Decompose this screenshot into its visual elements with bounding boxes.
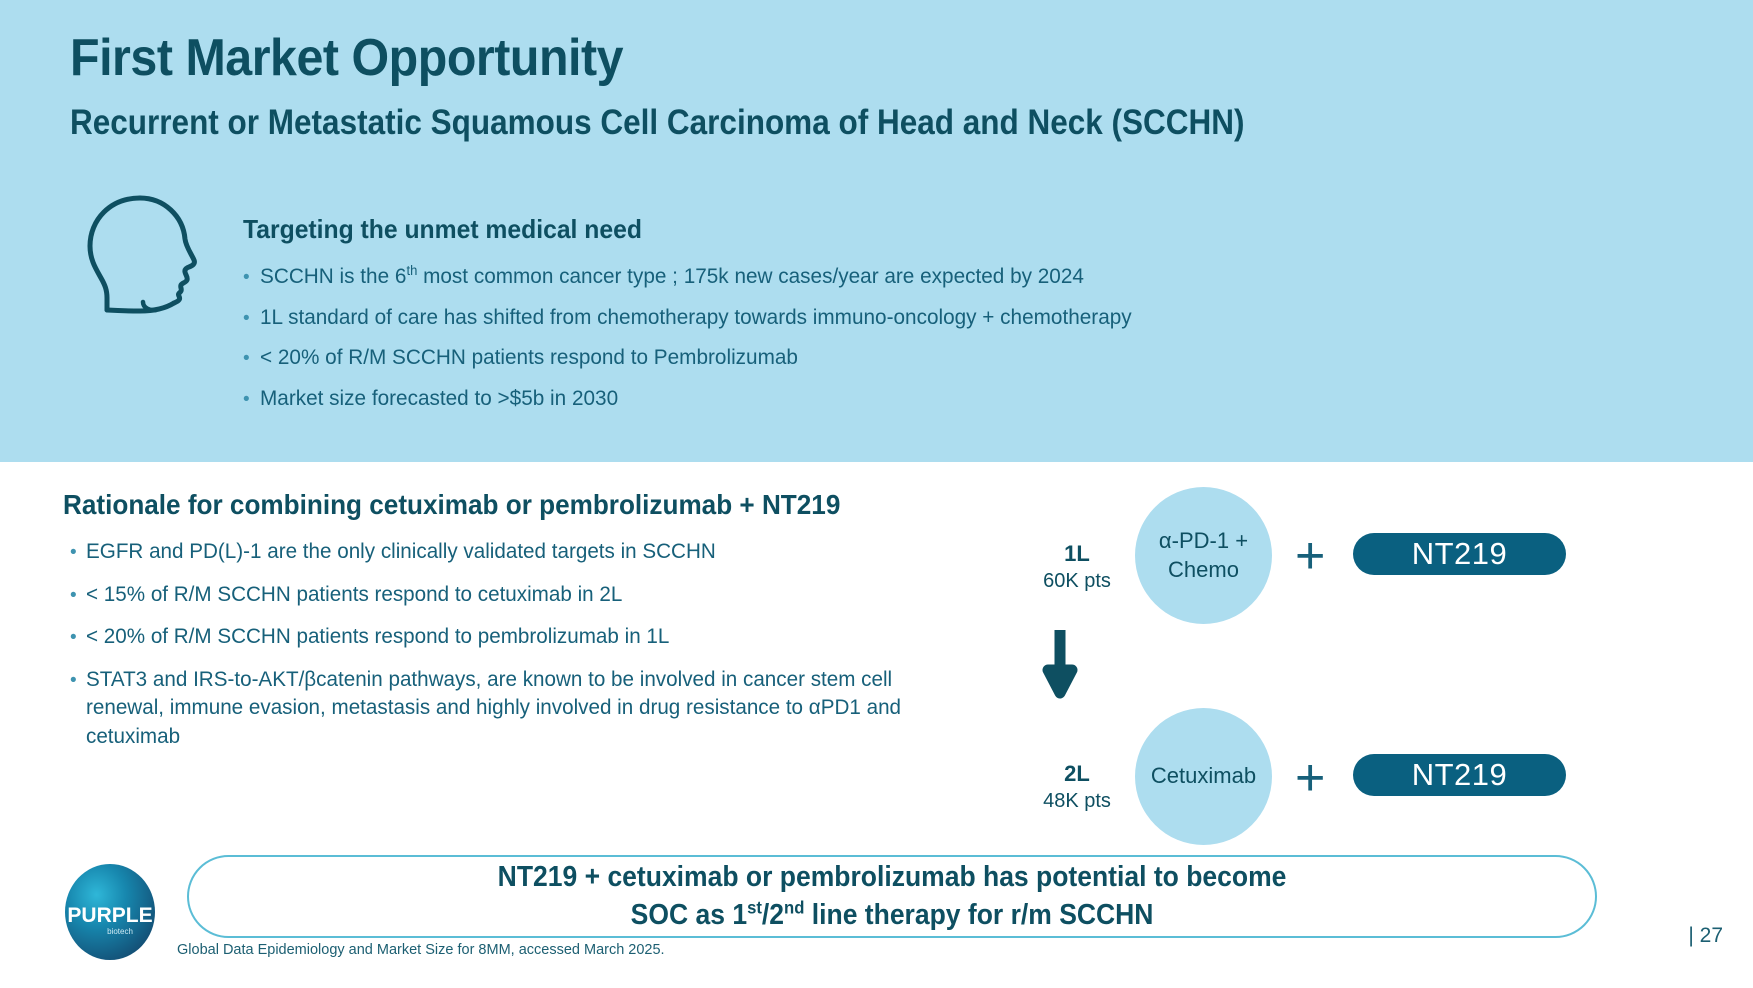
plus-sign-2l: + bbox=[1295, 752, 1325, 804]
list-item-text: EGFR and PD(L)-1 are the only clinically… bbox=[86, 537, 716, 566]
list-item: • STAT3 and IRS-to-AKT/βcatenin pathways… bbox=[70, 665, 1010, 751]
drug-circle-apd1-chemo: α-PD-1 + Chemo bbox=[1135, 487, 1272, 624]
purple-biotech-logo: PURPLE biotech bbox=[58, 862, 163, 962]
patient-count: 60K pts bbox=[1022, 568, 1132, 595]
callout-line-2: SOC as 1st/2nd line therapy for r/m SCCH… bbox=[631, 897, 1154, 935]
drug-circle-label: α-PD-1 + Chemo bbox=[1159, 527, 1248, 584]
unmet-need-bullet-list: • SCCHN is the 6th most common cancer ty… bbox=[243, 263, 1303, 425]
patient-count: 48K pts bbox=[1022, 788, 1132, 815]
list-item: • < 20% of R/M SCCHN patients respond to… bbox=[70, 622, 1010, 651]
list-item-text: 1L standard of care has shifted from che… bbox=[260, 304, 1132, 332]
conclusion-callout: NT219 + cetuximab or pembrolizumab has p… bbox=[187, 855, 1597, 938]
drug-circle-label: Cetuximab bbox=[1151, 762, 1256, 791]
list-item: • SCCHN is the 6th most common cancer ty… bbox=[243, 263, 1303, 291]
superscript: th bbox=[406, 263, 417, 278]
list-item: • 1L standard of care has shifted from c… bbox=[243, 304, 1303, 332]
list-item-text: < 20% of R/M SCCHN patients respond to p… bbox=[86, 622, 669, 651]
superscript: st bbox=[747, 897, 762, 917]
bullet-dot-icon: • bbox=[70, 628, 86, 647]
list-item: • Market size forecasted to >$5b in 2030 bbox=[243, 385, 1303, 413]
nt219-pill-1l[interactable]: NT219 bbox=[1353, 533, 1566, 575]
list-item: • < 15% of R/M SCCHN patients respond to… bbox=[70, 580, 1010, 609]
line-label-1l: 1L 60K pts bbox=[1022, 540, 1132, 595]
page-title: First Market Opportunity bbox=[70, 28, 623, 88]
bullet-dot-icon: • bbox=[243, 309, 260, 328]
plus-sign-1l: + bbox=[1295, 530, 1325, 582]
list-item-text: STAT3 and IRS-to-AKT/βcatenin pathways, … bbox=[86, 665, 931, 751]
superscript: nd bbox=[784, 897, 804, 917]
rationale-bullet-list: • EGFR and PD(L)-1 are the only clinical… bbox=[70, 537, 1010, 765]
page-subtitle: Recurrent or Metastatic Squamous Cell Ca… bbox=[70, 103, 1245, 143]
list-item-text: SCCHN is the 6th most common cancer type… bbox=[260, 263, 1084, 291]
line-label-2l: 2L 48K pts bbox=[1022, 760, 1132, 815]
logo-tagline: biotech bbox=[107, 927, 133, 936]
line-name: 1L bbox=[1022, 540, 1132, 568]
list-item: • EGFR and PD(L)-1 are the only clinical… bbox=[70, 537, 1010, 566]
page-number: | 27 bbox=[1688, 924, 1723, 948]
callout-line-1: NT219 + cetuximab or pembrolizumab has p… bbox=[498, 859, 1287, 897]
rationale-heading: Rationale for combining cetuximab or pem… bbox=[63, 489, 840, 521]
nt219-pill-2l[interactable]: NT219 bbox=[1353, 754, 1566, 796]
list-item: • < 20% of R/M SCCHN patients respond to… bbox=[243, 344, 1303, 372]
list-item-text: Market size forecasted to >$5b in 2030 bbox=[260, 385, 618, 413]
slide-root: First Market Opportunity Recurrent or Me… bbox=[0, 0, 1753, 988]
drug-circle-cetuximab: Cetuximab bbox=[1135, 708, 1272, 845]
logo-wordmark: PURPLE bbox=[67, 904, 152, 927]
bullet-dot-icon: • bbox=[70, 543, 86, 562]
bullet-dot-icon: • bbox=[243, 390, 260, 409]
line-name: 2L bbox=[1022, 760, 1132, 788]
down-arrow-icon bbox=[1040, 630, 1080, 700]
list-item-text: < 20% of R/M SCCHN patients respond to P… bbox=[260, 344, 798, 372]
bullet-dot-icon: • bbox=[70, 586, 86, 605]
bullet-dot-icon: • bbox=[243, 349, 260, 368]
list-item-text: < 15% of R/M SCCHN patients respond to c… bbox=[86, 580, 622, 609]
bullet-dot-icon: • bbox=[243, 268, 260, 287]
head-profile-icon bbox=[80, 192, 198, 314]
bullet-dot-icon: • bbox=[70, 671, 86, 690]
unmet-need-heading: Targeting the unmet medical need bbox=[243, 214, 642, 245]
footnote-citation: Global Data Epidemiology and Market Size… bbox=[177, 942, 665, 958]
